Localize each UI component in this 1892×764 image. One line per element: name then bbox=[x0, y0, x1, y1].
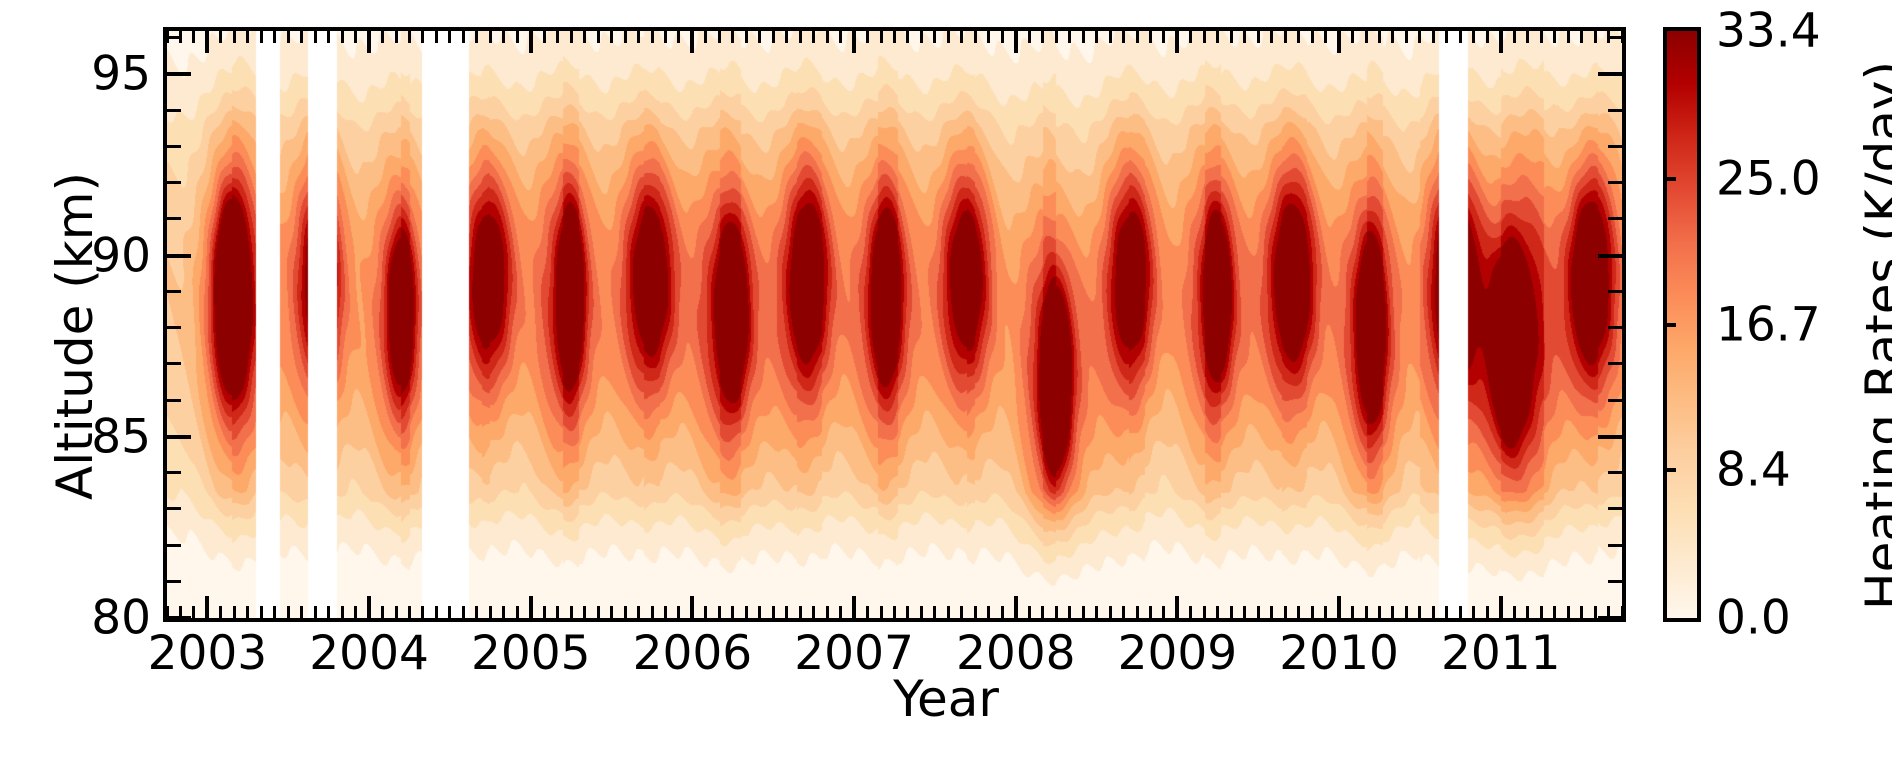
tick-mark bbox=[1175, 31, 1179, 53]
tick-mark bbox=[1122, 31, 1125, 43]
tick-mark bbox=[1608, 580, 1622, 583]
tick-mark bbox=[1162, 31, 1165, 43]
tick-mark bbox=[192, 31, 195, 43]
tick-mark bbox=[327, 31, 330, 43]
tick-mark bbox=[314, 31, 317, 43]
tick-mark bbox=[167, 544, 181, 547]
tick-mark bbox=[502, 606, 505, 618]
tick-mark bbox=[167, 471, 181, 474]
tick-mark bbox=[1472, 31, 1475, 43]
tick-mark bbox=[1284, 31, 1287, 43]
tick-mark bbox=[341, 606, 344, 618]
tick-mark bbox=[1082, 31, 1085, 43]
tick-mark bbox=[664, 606, 667, 618]
tick-mark bbox=[502, 31, 505, 43]
tick-mark bbox=[960, 606, 963, 618]
tick-mark bbox=[1284, 606, 1287, 618]
tick-mark bbox=[947, 606, 950, 618]
tick-mark bbox=[354, 31, 357, 43]
tick-mark bbox=[167, 145, 181, 148]
colorbar-tick bbox=[1663, 468, 1676, 472]
colorbar-tick-label: 16.7 bbox=[1716, 297, 1821, 352]
tick-mark bbox=[974, 606, 977, 618]
tick-mark bbox=[1405, 606, 1408, 618]
tick-mark bbox=[1608, 471, 1622, 474]
colorbar-tick bbox=[1663, 323, 1676, 327]
tick-mark bbox=[987, 31, 990, 43]
tick-mark bbox=[920, 606, 923, 618]
tick-mark bbox=[1365, 31, 1368, 43]
tick-mark bbox=[785, 31, 788, 43]
colorbar-tick-label: 25.0 bbox=[1716, 151, 1821, 206]
tick-mark bbox=[448, 606, 451, 618]
tick-mark bbox=[624, 31, 627, 43]
tick-mark bbox=[799, 606, 802, 618]
tick-mark bbox=[1553, 606, 1556, 618]
tick-mark bbox=[1001, 31, 1004, 43]
colorbar-tick-label: 8.4 bbox=[1716, 443, 1791, 498]
tick-mark bbox=[704, 31, 707, 43]
tick-mark bbox=[556, 31, 559, 43]
tick-mark bbox=[677, 606, 680, 618]
x-tick-label: 2010 bbox=[1279, 626, 1399, 681]
tick-mark bbox=[704, 606, 707, 618]
tick-mark bbox=[731, 606, 734, 618]
tick-mark bbox=[1486, 31, 1489, 43]
tick-mark bbox=[1608, 507, 1622, 510]
tick-mark bbox=[933, 606, 936, 618]
tick-mark bbox=[367, 596, 371, 618]
tick-mark bbox=[570, 31, 573, 43]
tick-mark bbox=[381, 31, 384, 43]
y-tick-label: 80 bbox=[91, 591, 151, 646]
tick-mark bbox=[435, 31, 438, 43]
tick-mark bbox=[448, 31, 451, 43]
tick-mark bbox=[1608, 217, 1622, 220]
tick-mark bbox=[1594, 606, 1597, 618]
tick-mark bbox=[246, 31, 249, 43]
tick-mark bbox=[273, 606, 276, 618]
tick-mark bbox=[421, 31, 424, 43]
tick-mark bbox=[205, 596, 209, 618]
tick-mark bbox=[866, 606, 869, 618]
tick-mark bbox=[758, 31, 761, 43]
tick-mark bbox=[1001, 606, 1004, 618]
tick-mark bbox=[1041, 31, 1044, 43]
x-tick-label: 2004 bbox=[309, 626, 429, 681]
x-axis-title: Year bbox=[0, 670, 1892, 728]
tick-mark bbox=[1598, 254, 1622, 258]
tick-mark bbox=[543, 606, 546, 618]
colorbar-tick-label: 33.4 bbox=[1716, 4, 1821, 59]
tick-mark bbox=[906, 31, 909, 43]
tick-mark bbox=[1230, 31, 1233, 43]
tick-mark bbox=[421, 606, 424, 618]
tick-mark bbox=[314, 606, 317, 618]
x-tick-label: 2003 bbox=[148, 626, 268, 681]
tick-mark bbox=[1149, 606, 1152, 618]
tick-mark bbox=[462, 31, 465, 43]
tick-mark bbox=[1068, 31, 1071, 43]
tick-mark bbox=[880, 606, 883, 618]
tick-mark bbox=[1608, 36, 1622, 39]
tick-mark bbox=[772, 31, 775, 43]
tick-mark bbox=[718, 31, 721, 43]
tick-mark bbox=[1230, 606, 1233, 618]
tick-mark bbox=[1257, 606, 1260, 618]
tick-mark bbox=[839, 606, 842, 618]
tick-mark bbox=[1337, 31, 1341, 53]
tick-mark bbox=[893, 31, 896, 43]
tick-mark bbox=[987, 606, 990, 618]
tick-mark bbox=[1270, 606, 1273, 618]
tick-mark bbox=[664, 31, 667, 43]
tick-mark bbox=[758, 606, 761, 618]
tick-mark bbox=[167, 290, 181, 293]
tick-mark bbox=[1553, 31, 1556, 43]
tick-mark bbox=[1311, 31, 1314, 43]
y-tick-label: 95 bbox=[91, 47, 151, 102]
tick-mark bbox=[556, 606, 559, 618]
colorbar-tick bbox=[1663, 177, 1676, 181]
tick-mark bbox=[167, 181, 181, 184]
tick-mark bbox=[516, 606, 519, 618]
tick-mark bbox=[1365, 606, 1368, 618]
tick-mark bbox=[852, 31, 856, 53]
tick-mark bbox=[1109, 31, 1112, 43]
tick-mark bbox=[435, 606, 438, 618]
tick-mark bbox=[1297, 31, 1300, 43]
tick-mark bbox=[1405, 31, 1408, 43]
tick-mark bbox=[1608, 326, 1622, 329]
tick-mark bbox=[246, 606, 249, 618]
tick-mark bbox=[1580, 606, 1583, 618]
tick-mark bbox=[300, 31, 303, 43]
contour-canvas bbox=[167, 31, 1622, 618]
tick-mark bbox=[731, 31, 734, 43]
tick-mark bbox=[826, 606, 829, 618]
chart-figure: Altitude (km) Year 200320042005200620072… bbox=[0, 0, 1892, 764]
tick-mark bbox=[690, 31, 694, 53]
tick-mark bbox=[1189, 31, 1192, 43]
tick-mark bbox=[167, 362, 181, 365]
tick-mark bbox=[1216, 31, 1219, 43]
tick-mark bbox=[745, 31, 748, 43]
tick-mark bbox=[260, 606, 263, 618]
tick-mark bbox=[1095, 31, 1098, 43]
tick-mark bbox=[1041, 606, 1044, 618]
tick-mark bbox=[1472, 606, 1475, 618]
tick-mark bbox=[167, 217, 181, 220]
tick-mark bbox=[772, 606, 775, 618]
tick-mark bbox=[610, 31, 613, 43]
tick-mark bbox=[933, 31, 936, 43]
tick-mark bbox=[1324, 606, 1327, 618]
tick-mark bbox=[583, 31, 586, 43]
tick-mark bbox=[866, 31, 869, 43]
tick-mark bbox=[597, 31, 600, 43]
x-tick-label: 2009 bbox=[1118, 626, 1238, 681]
tick-mark bbox=[812, 606, 815, 618]
tick-mark bbox=[1391, 31, 1394, 43]
tick-mark bbox=[1459, 31, 1462, 43]
tick-mark bbox=[219, 606, 222, 618]
colorbar-title: Heating Rates (K/day) bbox=[1855, 60, 1892, 609]
tick-mark bbox=[408, 606, 411, 618]
tick-mark bbox=[1095, 606, 1098, 618]
tick-mark bbox=[690, 596, 694, 618]
tick-mark bbox=[1351, 31, 1354, 43]
tick-mark bbox=[167, 435, 191, 439]
x-tick-label: 2007 bbox=[794, 626, 914, 681]
tick-mark bbox=[1594, 31, 1597, 43]
tick-mark bbox=[785, 606, 788, 618]
tick-mark bbox=[205, 31, 209, 53]
tick-mark bbox=[677, 31, 680, 43]
tick-mark bbox=[1526, 606, 1529, 618]
tick-mark bbox=[367, 31, 371, 53]
tick-mark bbox=[651, 31, 654, 43]
tick-mark bbox=[1122, 606, 1125, 618]
tick-mark bbox=[893, 606, 896, 618]
tick-mark bbox=[1418, 606, 1421, 618]
tick-mark bbox=[1311, 606, 1314, 618]
tick-mark bbox=[341, 31, 344, 43]
tick-mark bbox=[1598, 72, 1622, 76]
tick-mark bbox=[475, 606, 478, 618]
tick-mark bbox=[287, 31, 290, 43]
tick-mark bbox=[920, 31, 923, 43]
tick-mark bbox=[1567, 606, 1570, 618]
tick-mark bbox=[287, 606, 290, 618]
tick-mark bbox=[1378, 31, 1381, 43]
tick-mark bbox=[475, 31, 478, 43]
colorbar bbox=[1663, 27, 1701, 622]
tick-mark bbox=[1028, 31, 1031, 43]
x-tick-label: 2006 bbox=[633, 626, 753, 681]
tick-mark bbox=[880, 31, 883, 43]
tick-mark bbox=[1175, 596, 1179, 618]
tick-mark bbox=[1540, 606, 1543, 618]
colorbar-tick-label: 0.0 bbox=[1716, 591, 1791, 646]
tick-mark bbox=[1391, 606, 1394, 618]
tick-mark bbox=[219, 31, 222, 43]
tick-mark bbox=[1486, 606, 1489, 618]
tick-mark bbox=[1203, 606, 1206, 618]
tick-mark bbox=[1445, 31, 1448, 43]
tick-mark bbox=[1136, 31, 1139, 43]
tick-mark bbox=[799, 31, 802, 43]
tick-mark bbox=[1014, 31, 1018, 53]
tick-mark bbox=[529, 31, 533, 53]
tick-mark bbox=[637, 606, 640, 618]
x-tick-label: 2005 bbox=[471, 626, 591, 681]
tick-mark bbox=[408, 31, 411, 43]
tick-mark bbox=[354, 606, 357, 618]
tick-mark bbox=[1014, 596, 1018, 618]
tick-mark bbox=[1608, 290, 1622, 293]
tick-mark bbox=[167, 616, 191, 620]
tick-mark bbox=[1608, 544, 1622, 547]
tick-mark bbox=[1351, 606, 1354, 618]
tick-mark bbox=[1580, 31, 1583, 43]
tick-mark bbox=[637, 31, 640, 43]
tick-mark bbox=[1028, 606, 1031, 618]
tick-mark bbox=[852, 596, 856, 618]
tick-mark bbox=[300, 606, 303, 618]
tick-mark bbox=[233, 31, 236, 43]
tick-mark bbox=[167, 36, 181, 39]
tick-mark bbox=[974, 31, 977, 43]
tick-mark bbox=[395, 606, 398, 618]
tick-mark bbox=[167, 326, 181, 329]
tick-mark bbox=[583, 606, 586, 618]
tick-mark bbox=[1608, 181, 1622, 184]
tick-mark bbox=[1499, 596, 1503, 618]
tick-mark bbox=[651, 606, 654, 618]
tick-mark bbox=[1513, 31, 1516, 43]
tick-mark bbox=[260, 31, 263, 43]
tick-mark bbox=[192, 606, 195, 618]
tick-mark bbox=[1136, 606, 1139, 618]
tick-mark bbox=[1109, 606, 1112, 618]
tick-mark bbox=[167, 254, 191, 258]
tick-mark bbox=[167, 72, 191, 76]
tick-mark bbox=[381, 606, 384, 618]
tick-mark bbox=[233, 606, 236, 618]
tick-mark bbox=[167, 399, 181, 402]
tick-mark bbox=[1055, 606, 1058, 618]
y-tick-label: 85 bbox=[91, 409, 151, 464]
tick-mark bbox=[745, 606, 748, 618]
tick-mark bbox=[1055, 31, 1058, 43]
tick-mark bbox=[812, 31, 815, 43]
tick-mark bbox=[1445, 606, 1448, 618]
tick-mark bbox=[1499, 31, 1503, 53]
tick-mark bbox=[1608, 399, 1622, 402]
tick-mark bbox=[1598, 435, 1622, 439]
tick-mark bbox=[1257, 31, 1260, 43]
tick-mark bbox=[1162, 606, 1165, 618]
tick-mark bbox=[1297, 606, 1300, 618]
tick-mark bbox=[826, 31, 829, 43]
tick-mark bbox=[489, 606, 492, 618]
tick-mark bbox=[1082, 606, 1085, 618]
tick-mark bbox=[1598, 616, 1622, 620]
tick-mark bbox=[395, 31, 398, 43]
tick-mark bbox=[1337, 596, 1341, 618]
tick-mark bbox=[327, 606, 330, 618]
tick-mark bbox=[960, 31, 963, 43]
tick-mark bbox=[167, 507, 181, 510]
tick-mark bbox=[1068, 606, 1071, 618]
tick-mark bbox=[1418, 31, 1421, 43]
tick-mark bbox=[1513, 606, 1516, 618]
tick-mark bbox=[624, 606, 627, 618]
tick-mark bbox=[570, 606, 573, 618]
tick-mark bbox=[1432, 606, 1435, 618]
tick-mark bbox=[1432, 31, 1435, 43]
tick-mark bbox=[1270, 31, 1273, 43]
tick-mark bbox=[1608, 145, 1622, 148]
tick-mark bbox=[1540, 31, 1543, 43]
tick-mark bbox=[1149, 31, 1152, 43]
tick-mark bbox=[947, 31, 950, 43]
tick-mark bbox=[610, 606, 613, 618]
tick-mark bbox=[1608, 362, 1622, 365]
tick-mark bbox=[1459, 606, 1462, 618]
tick-mark bbox=[1324, 31, 1327, 43]
tick-mark bbox=[1378, 606, 1381, 618]
tick-mark bbox=[1243, 31, 1246, 43]
tick-mark bbox=[1567, 31, 1570, 43]
contour-plot-area bbox=[163, 27, 1626, 622]
tick-mark bbox=[597, 606, 600, 618]
tick-mark bbox=[1608, 109, 1622, 112]
y-tick-label: 90 bbox=[91, 228, 151, 283]
tick-mark bbox=[516, 31, 519, 43]
tick-mark bbox=[1216, 606, 1219, 618]
tick-mark bbox=[1203, 31, 1206, 43]
tick-mark bbox=[906, 606, 909, 618]
tick-mark bbox=[543, 31, 546, 43]
x-tick-label: 2008 bbox=[956, 626, 1076, 681]
tick-mark bbox=[462, 606, 465, 618]
tick-mark bbox=[718, 606, 721, 618]
tick-mark bbox=[1189, 606, 1192, 618]
tick-mark bbox=[529, 596, 533, 618]
tick-mark bbox=[167, 109, 181, 112]
x-tick-label: 2011 bbox=[1441, 626, 1561, 681]
tick-mark bbox=[489, 31, 492, 43]
tick-mark bbox=[167, 580, 181, 583]
tick-mark bbox=[839, 31, 842, 43]
tick-mark bbox=[1243, 606, 1246, 618]
tick-mark bbox=[273, 31, 276, 43]
tick-mark bbox=[1526, 31, 1529, 43]
